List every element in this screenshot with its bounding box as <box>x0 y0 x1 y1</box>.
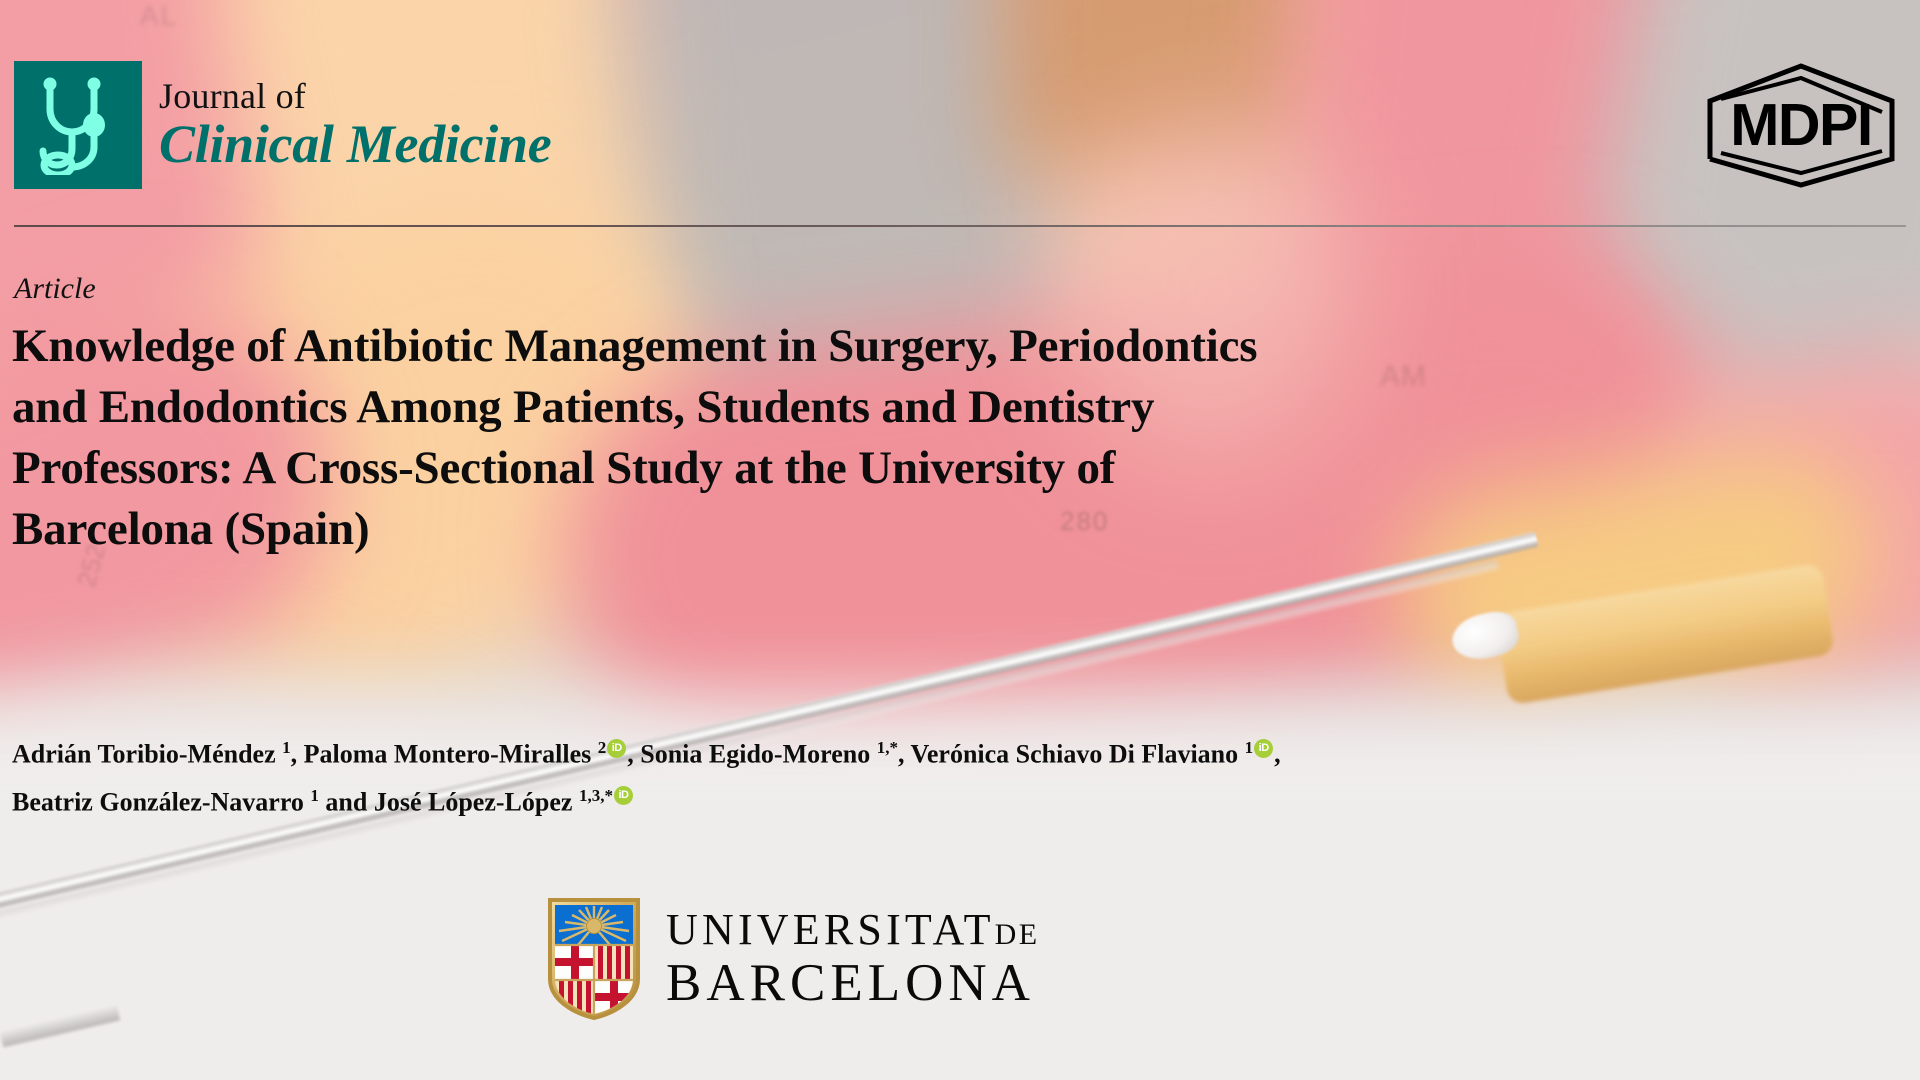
author-list: Adrián Toribio-Méndez 1, Paloma Montero-… <box>12 727 1912 822</box>
journal-logo[interactable]: Journal of Clinical Medicine <box>14 57 551 192</box>
affiliation-logo[interactable]: UNIVERSITATDE BARCELONA <box>548 898 1039 1020</box>
author-affiliation-marker: 1,3,* <box>579 786 613 805</box>
journal-logo-text: Journal of Clinical Medicine <box>159 78 551 171</box>
author-name: José López-López <box>374 787 579 816</box>
author-name: Verónica Schiavo Di Flaviano <box>910 740 1244 769</box>
title-line: Knowledge of Antibiotic Management in Su… <box>12 320 1257 372</box>
journal-name-line1: Journal of <box>159 78 551 114</box>
author-name: Sonia Egido-Moreno <box>640 740 876 769</box>
publisher-name: MDPI <box>1696 91 1906 159</box>
cover-content: Journal of Clinical Medicine MDPI <box>0 0 1920 1080</box>
author-separator: , <box>898 740 911 769</box>
journal-logo-mark <box>14 61 142 189</box>
affiliation-line-1: UNIVERSITATDE <box>666 907 1039 954</box>
author-name: Beatriz González-Navarro <box>12 787 310 816</box>
author-affiliation-marker: 1 <box>282 738 291 757</box>
university-of-barcelona-shield-icon <box>548 898 640 1020</box>
author-separator: , <box>291 740 304 769</box>
author-affiliation-marker: 1 <box>1245 738 1254 757</box>
page-title: Knowledge of Antibiotic Management in Su… <box>12 316 1592 560</box>
author-name: Paloma Montero-Miralles <box>304 740 598 769</box>
author-affiliation-marker: 2 <box>598 738 607 757</box>
title-line: and Endodontics Among Patients, Students… <box>12 381 1154 433</box>
author-affiliation-marker: 1 <box>310 786 319 805</box>
title-line: Professors: A Cross-Sectional Study at t… <box>12 442 1115 494</box>
author-separator: , <box>627 740 640 769</box>
affiliation-logo-text: UNIVERSITATDE BARCELONA <box>666 907 1039 1012</box>
author-separator: and <box>319 787 374 816</box>
article-cover-page: AL AM 280 252 <box>0 0 1920 1080</box>
stethoscope-icon <box>32 75 124 175</box>
orcid-id-icon[interactable] <box>607 739 626 758</box>
affiliation-de: DE <box>995 918 1040 951</box>
header-divider <box>14 225 1906 227</box>
article-type-label: Article <box>14 272 96 306</box>
affiliation-line-2: BARCELONA <box>666 955 1039 1011</box>
author-line-2: Beatriz González-Navarro 1 and José Lópe… <box>12 775 1912 823</box>
author-name: Adrián Toribio-Méndez <box>12 740 282 769</box>
author-separator: , <box>1274 740 1281 769</box>
affiliation-universitat: UNIVERSITAT <box>666 905 995 954</box>
cover-header: Journal of Clinical Medicine MDPI <box>14 57 1906 192</box>
publisher-logo[interactable]: MDPI <box>1696 61 1906 189</box>
orcid-id-icon[interactable] <box>614 786 633 805</box>
orcid-id-icon[interactable] <box>1254 739 1273 758</box>
author-affiliation-marker: 1,* <box>877 738 898 757</box>
author-line-1: Adrián Toribio-Méndez 1, Paloma Montero-… <box>12 727 1912 775</box>
title-line: Barcelona (Spain) <box>12 503 369 555</box>
journal-name-line2: Clinical Medicine <box>159 117 551 171</box>
